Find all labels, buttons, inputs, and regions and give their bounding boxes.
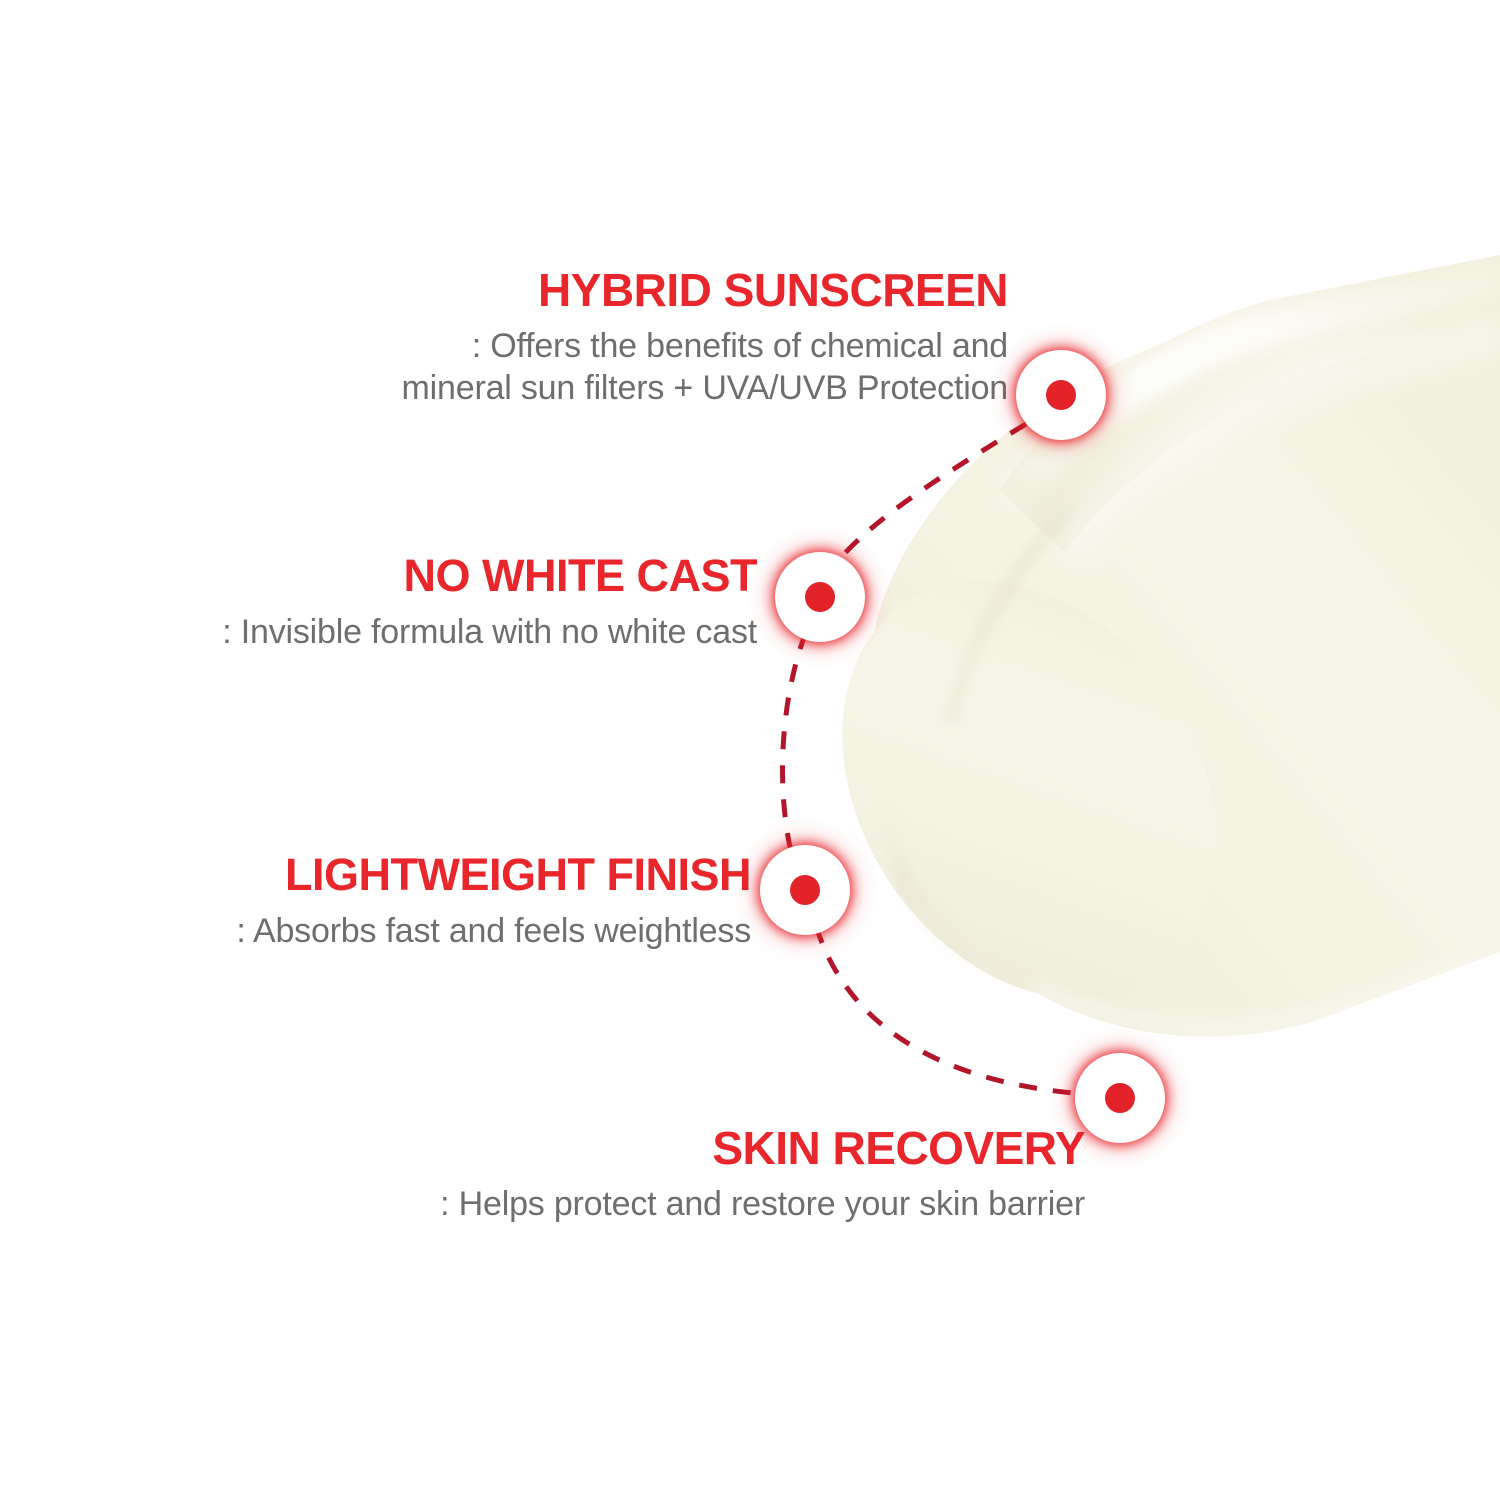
feature-description-line: mineral sun filters + UVA/UVB Protection <box>402 368 1008 409</box>
marker-skin-recovery <box>1082 1060 1158 1136</box>
feature-title: NO WHITE CAST <box>222 549 757 604</box>
feature-skin-recovery: SKIN RECOVERY : Helps protect and restor… <box>440 1120 1085 1226</box>
connector-layer <box>0 0 1500 1500</box>
feature-description-line: : Helps protect and restore your skin ba… <box>440 1184 1085 1225</box>
feature-description: : Offers the benefits of chemical and mi… <box>402 326 1008 409</box>
dashed-connector-path <box>0 0 1500 1500</box>
feature-description-line: : Offers the benefits of chemical and <box>402 326 1008 367</box>
feature-title: LIGHTWEIGHT FINISH <box>236 848 751 903</box>
feature-no-white-cast: NO WHITE CAST : Invisible formula with n… <box>222 549 757 653</box>
marker-hybrid-sunscreen <box>1023 357 1099 433</box>
feature-hybrid-sunscreen: HYBRID SUNSCREEN : Offers the benefits o… <box>402 262 1008 409</box>
feature-lightweight-finish: LIGHTWEIGHT FINISH : Absorbs fast and fe… <box>236 848 751 952</box>
feature-description: : Invisible formula with no white cast <box>222 612 757 653</box>
feature-description-line: : Absorbs fast and feels weightless <box>236 911 751 952</box>
feature-description-line: : Invisible formula with no white cast <box>222 612 757 653</box>
marker-lightweight-finish <box>767 852 843 928</box>
marker-no-white-cast <box>782 559 858 635</box>
feature-title: SKIN RECOVERY <box>440 1120 1085 1176</box>
feature-description: : Absorbs fast and feels weightless <box>236 911 751 952</box>
feature-description: : Helps protect and restore your skin ba… <box>440 1184 1085 1225</box>
feature-title: HYBRID SUNSCREEN <box>402 262 1008 318</box>
infographic-canvas: HYBRID SUNSCREEN : Offers the benefits o… <box>0 0 1500 1500</box>
